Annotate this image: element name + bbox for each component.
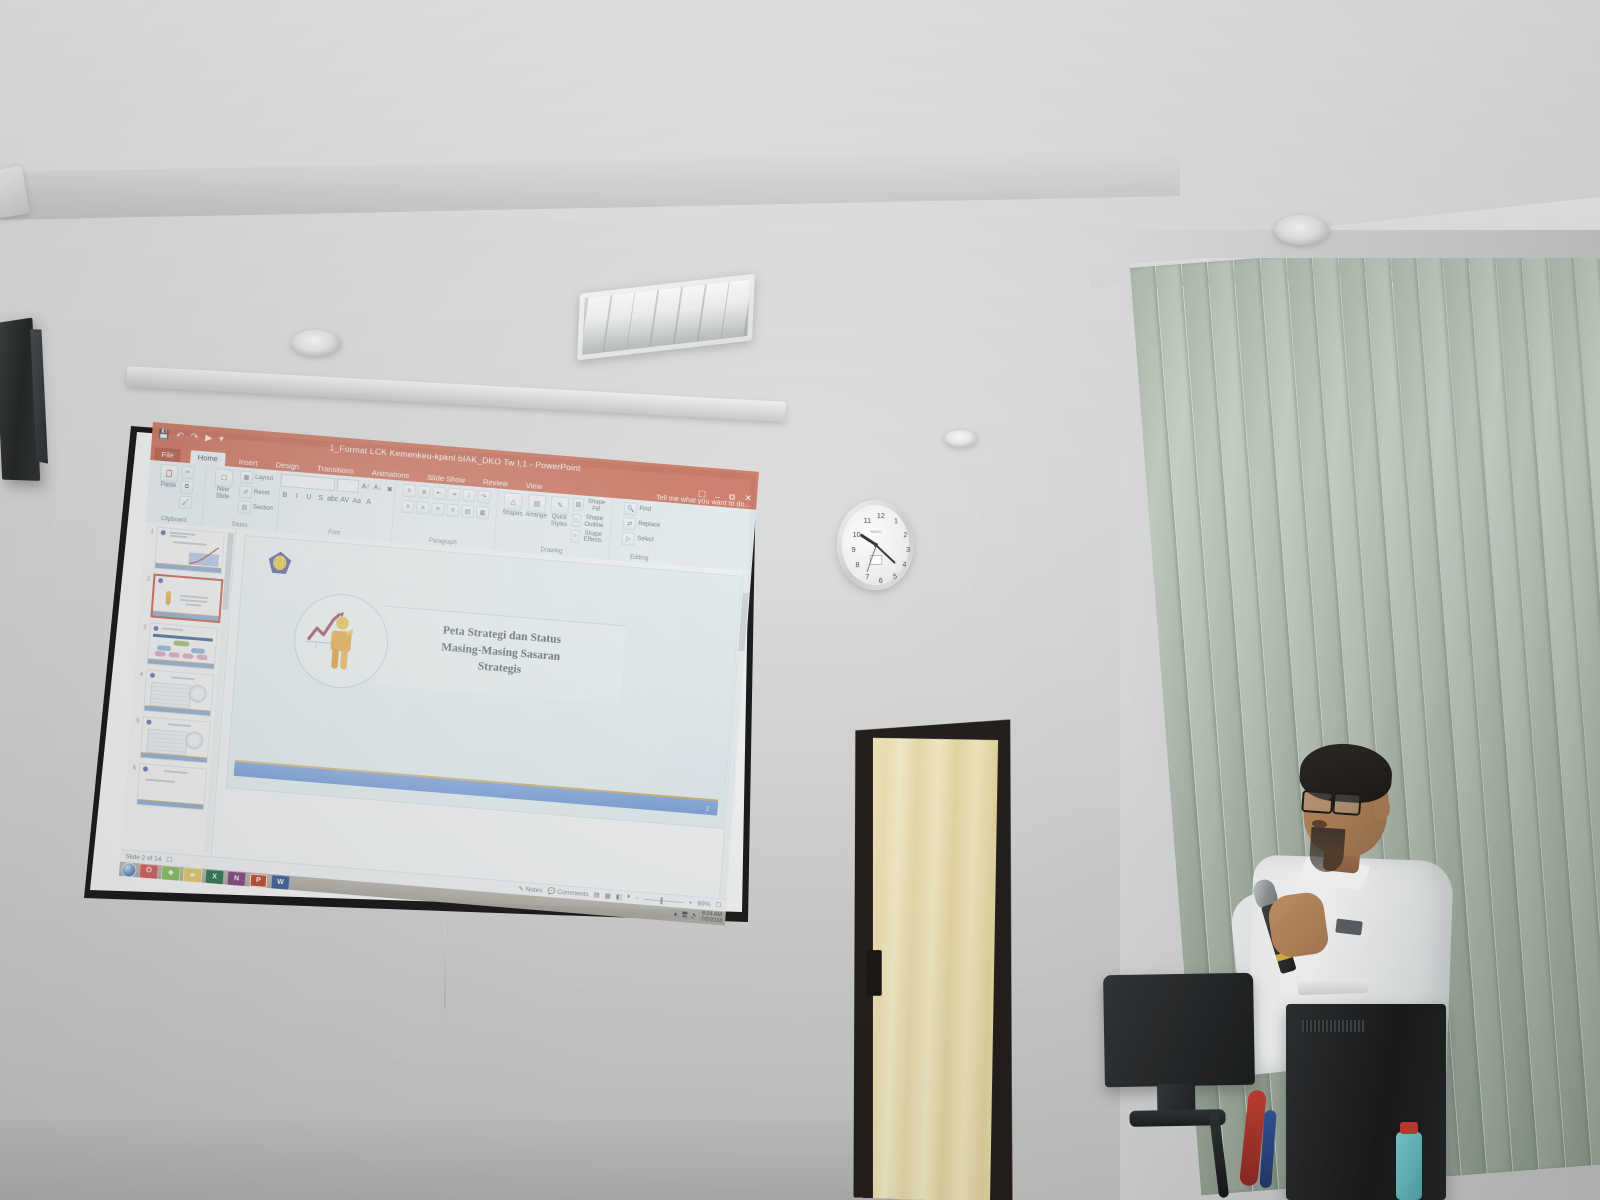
bottle-cap xyxy=(1400,1122,1418,1134)
find-label: Find xyxy=(639,506,651,514)
shape-outline-icon[interactable]: □ xyxy=(571,514,581,528)
columns-icon[interactable]: ▤ xyxy=(461,505,475,519)
pc-tower xyxy=(1286,1004,1446,1200)
editor-body: 1 xyxy=(121,522,752,900)
increase-font-size-icon[interactable]: A↑ xyxy=(360,482,371,493)
volume-icon[interactable]: 🔊 xyxy=(691,913,698,920)
kemenkeu-logo-icon xyxy=(150,673,155,678)
strikethrough-button[interactable]: abc xyxy=(327,494,338,505)
ribbon-group-clipboard: 📋 Paste ✂ ⧉ 🖌 Clipboard xyxy=(146,460,207,526)
thumbnail-person xyxy=(165,591,171,605)
slide-sorter-icon[interactable]: ▦ xyxy=(604,892,611,900)
notes-button[interactable]: ✎ Notes xyxy=(518,885,543,895)
taskbar-app-shutdown[interactable]: ⏻ xyxy=(139,863,159,880)
conference-room-scene: 12 1 2 3 4 5 6 7 8 9 10 11 SEIKO xyxy=(0,0,1600,1200)
find-icon[interactable]: 🔍 xyxy=(624,502,638,516)
water-bottle xyxy=(1396,1132,1422,1200)
slide-thumbnail[interactable]: 1 xyxy=(144,526,233,575)
slide-thumbnail[interactable]: 6 xyxy=(126,762,215,811)
thumbnail-curve xyxy=(188,544,219,566)
replace-label: Replace xyxy=(638,521,660,530)
clock-numeral: 8 xyxy=(852,560,864,569)
thumbnail-card[interactable] xyxy=(140,716,211,763)
ribbon-group-font: A↑ A↓ ✖ B I U S abc AV Aa xyxy=(277,471,396,542)
clock-center-pin xyxy=(874,543,878,547)
clear-formatting-icon[interactable]: ✖ xyxy=(384,484,395,495)
presenter-figure-icon xyxy=(328,615,354,671)
section-label: Section xyxy=(253,505,273,514)
restore-icon[interactable]: ⧉ xyxy=(729,491,736,502)
clock-numeral: 5 xyxy=(889,572,900,581)
layout-icon[interactable]: ▦ xyxy=(240,470,254,484)
kemenkeu-logo-icon xyxy=(146,719,151,724)
keypad-remote[interactable] xyxy=(1298,979,1368,995)
taskbar-app-powerpoint[interactable]: P xyxy=(248,872,268,889)
shadow-button[interactable]: S xyxy=(315,493,326,504)
slide-page-number: 2 xyxy=(706,806,710,813)
thumbnail-card[interactable] xyxy=(150,574,223,624)
select-label: Select xyxy=(637,536,654,544)
slide-editing-area[interactable]: Peta Strategi dan Status Masing-Masing S… xyxy=(212,529,752,899)
cut-icon[interactable]: ✂ xyxy=(181,466,195,480)
clock-numeral: 6 xyxy=(875,576,886,585)
show-hidden-icons-icon[interactable]: ▲ xyxy=(673,911,679,918)
reset-label: Reset xyxy=(254,490,270,498)
zoom-out-button[interactable]: − xyxy=(635,895,639,902)
increase-indent-icon[interactable]: ⇥ xyxy=(447,487,461,501)
tray-date: 7/2/2018 xyxy=(701,917,723,925)
glasses-icon xyxy=(1301,790,1364,814)
quick-styles-label: Quick Styles xyxy=(549,514,569,529)
new-slide-label: New Slide xyxy=(209,486,236,502)
arrange-icon[interactable]: ▤ xyxy=(527,494,546,513)
quick-styles-icon[interactable]: ✎ xyxy=(551,496,570,515)
presenter-pocket-item xyxy=(1335,918,1363,935)
taskbar-app-excel[interactable]: X xyxy=(205,868,225,885)
slide-thumbnail[interactable]: 5 xyxy=(130,715,219,764)
convert-to-smartart-icon[interactable]: ▦ xyxy=(476,506,490,520)
line-spacing-icon[interactable]: ↕ xyxy=(462,489,476,503)
kemenkeu-logo-icon xyxy=(143,766,148,771)
thumbnail-seal xyxy=(185,731,204,750)
reset-icon[interactable]: ↺ xyxy=(239,485,253,499)
bold-button[interactable]: B xyxy=(280,490,291,501)
ribbon-group-slides: ☐ New Slide ▦ Layout ↺ Reset ▤ Section xyxy=(202,465,281,533)
ceiling-downlight-icon xyxy=(291,330,341,356)
format-painter-icon[interactable]: 🖌 xyxy=(179,495,193,509)
thumbnail-card[interactable] xyxy=(136,763,207,810)
underline-button[interactable]: U xyxy=(303,492,314,503)
replace-icon[interactable]: ⇄ xyxy=(623,517,637,531)
shapes-icon[interactable]: △ xyxy=(504,492,523,511)
kemenkeu-logo-icon xyxy=(161,530,166,535)
text-direction-icon[interactable]: ↷ xyxy=(477,490,491,504)
door-handle-plate[interactable] xyxy=(866,950,882,996)
thumbnail-card[interactable] xyxy=(147,622,218,669)
shape-outline-label: Shape Outline xyxy=(582,514,606,530)
clock-numeral: 1 xyxy=(890,516,901,525)
zoom-in-button[interactable]: + xyxy=(689,899,693,906)
reading-view-icon[interactable]: ◧ xyxy=(616,893,623,901)
shape-fill-icon[interactable]: ▧ xyxy=(573,498,585,512)
clock-numeral: 11 xyxy=(861,516,873,525)
justify-icon[interactable]: ≡ xyxy=(446,503,460,517)
title-callout: Peta Strategi dan Status Masing-Masing S… xyxy=(290,596,626,715)
italic-button[interactable]: I xyxy=(291,491,302,502)
taskbar-app-onenote[interactable]: N xyxy=(226,870,246,887)
clock-numeral: 12 xyxy=(875,511,886,520)
shape-fill-label: Shape Fill xyxy=(585,499,607,514)
thumbnail-number: 1 xyxy=(147,526,155,536)
select-icon[interactable]: ▷ xyxy=(622,532,636,546)
ribbon-group-paragraph: ≡ ≣ ⇤ ⇥ ↕ ↷ ≡ ≡ ≡ ≡ xyxy=(392,480,499,550)
thumbnail-number: 2 xyxy=(143,573,151,583)
presenter-ear xyxy=(1373,797,1391,821)
change-case-button[interactable]: Aa xyxy=(351,496,362,507)
slide-footer-bar xyxy=(234,762,718,816)
decrease-indent-icon[interactable]: ⇤ xyxy=(432,486,446,500)
paste-label: Paste xyxy=(160,482,176,490)
new-slide-icon[interactable]: ☐ xyxy=(214,468,233,487)
shape-effects-label: Shape Effects xyxy=(581,530,605,546)
zoom-slider[interactable] xyxy=(644,898,684,902)
projector-screen-assembly: 💾 ↶ ↷ ▶ ▾ 1_Format LCK Kemenkeu-kpknl bI… xyxy=(58,378,758,938)
shape-effects-icon[interactable]: ☼ xyxy=(570,530,580,544)
section-icon[interactable]: ▤ xyxy=(237,500,251,514)
computer-monitor xyxy=(1103,973,1255,1088)
thumbnail-number: 4 xyxy=(136,668,144,678)
zoom-level[interactable]: 69% xyxy=(697,900,710,908)
clock-numeral: 9 xyxy=(848,545,860,554)
thumbnail-number: 5 xyxy=(132,715,140,725)
shapes-label: Shapes xyxy=(502,510,523,519)
clock-numeral: 7 xyxy=(861,572,873,581)
close-icon[interactable]: ✕ xyxy=(744,493,752,505)
paste-icon[interactable]: 📋 xyxy=(160,464,179,483)
thumbnail-seal xyxy=(188,684,207,703)
font-name-input[interactable] xyxy=(281,474,336,491)
accessibility-icon[interactable]: ☐ xyxy=(166,856,172,864)
doorway[interactable] xyxy=(853,719,1012,1200)
slide-thumbnail[interactable]: 4 xyxy=(133,668,222,717)
fit-slide-icon[interactable]: ☐ xyxy=(715,901,721,909)
powerpoint-window: 💾 ↶ ↷ ▶ ▾ 1_Format LCK Kemenkeu-kpknl bI… xyxy=(119,422,759,926)
thumbnail-number: 3 xyxy=(139,622,147,632)
layout-label: Layout xyxy=(255,475,273,483)
minimize-icon[interactable]: – xyxy=(715,491,721,501)
ribbon-group-editing: 🔍 Find ⇄ Replace ▷ Select Editing xyxy=(609,498,673,565)
start-button[interactable] xyxy=(121,861,137,877)
thumbnail-number: 6 xyxy=(129,762,137,772)
bullets-icon[interactable]: ≡ xyxy=(402,484,416,498)
door-curtain xyxy=(873,734,998,1200)
character-spacing-button[interactable]: AV xyxy=(339,495,350,506)
wall-clock: 12 1 2 3 4 5 6 7 8 9 10 11 SEIKO xyxy=(837,499,914,591)
ribbon-display-options-icon[interactable]: ☐ xyxy=(698,489,707,501)
projected-powerpoint-window[interactable]: 💾 ↶ ↷ ▶ ▾ 1_Format LCK Kemenkeu-kpknl bI… xyxy=(119,422,759,926)
kemenkeu-logo-icon xyxy=(267,550,293,576)
slide-counter: Slide 2 of 14 xyxy=(125,853,162,863)
taskbar-app-word[interactable]: W xyxy=(270,874,290,891)
kemenkeu-logo-icon xyxy=(158,578,163,583)
align-left-icon[interactable]: ≡ xyxy=(401,500,415,514)
system-tray[interactable]: ▲ 🖥 🔊 8:04 AM 7/2/2018 xyxy=(672,908,725,925)
align-right-icon[interactable]: ≡ xyxy=(431,502,445,516)
arrange-label: Arrange xyxy=(525,512,547,521)
slide-thumbnail[interactable]: 3 xyxy=(137,622,226,671)
font-color-button[interactable]: A xyxy=(363,497,374,508)
taskbar-app-explorer[interactable]: ▰ xyxy=(183,867,203,884)
ribbon-group-drawing: △ Shapes ▤ Arrange ✎ Quick Styles xyxy=(494,489,613,560)
wall-speaker xyxy=(0,318,40,481)
network-icon[interactable]: 🖥 xyxy=(681,912,688,919)
taskbar-app-media[interactable]: ❖ xyxy=(161,865,181,882)
ceiling-downlight-icon xyxy=(1274,215,1330,245)
desk-equipment xyxy=(1096,962,1516,1200)
slide-thumbnail-selected[interactable]: 2 xyxy=(140,573,229,624)
presenter-hand xyxy=(1266,890,1330,959)
align-center-icon[interactable]: ≡ xyxy=(416,501,430,515)
floor-shadow xyxy=(0,1120,900,1200)
clock-tray[interactable]: 8:04 AM 7/2/2018 xyxy=(701,910,723,924)
clock-numeral: 3 xyxy=(903,545,914,554)
thumbnail-card[interactable] xyxy=(143,669,214,716)
current-slide[interactable]: Peta Strategi dan Status Masing-Masing S… xyxy=(227,536,741,828)
normal-view-icon[interactable]: ▤ xyxy=(593,891,600,899)
clock-numeral: 4 xyxy=(899,560,910,569)
cable-black xyxy=(1209,1112,1229,1199)
decrease-font-size-icon[interactable]: A↓ xyxy=(372,483,383,494)
copy-icon[interactable]: ⧉ xyxy=(180,480,194,494)
thumbnail-card[interactable] xyxy=(154,527,225,574)
screen-pull-cord[interactable] xyxy=(444,924,446,1010)
clock-brand: SEIKO xyxy=(870,529,882,534)
ceiling-downlight-icon xyxy=(944,430,978,447)
pc-vent xyxy=(1302,1020,1366,1032)
numbering-icon[interactable]: ≣ xyxy=(417,485,431,499)
font-size-input[interactable] xyxy=(336,478,359,493)
slide-show-icon[interactable]: ⏵ xyxy=(627,893,631,901)
kemenkeu-logo-icon xyxy=(153,626,158,631)
clock-numeral: 2 xyxy=(900,530,911,539)
clock-face: 12 1 2 3 4 5 6 7 8 9 10 11 SEIKO xyxy=(842,504,909,585)
